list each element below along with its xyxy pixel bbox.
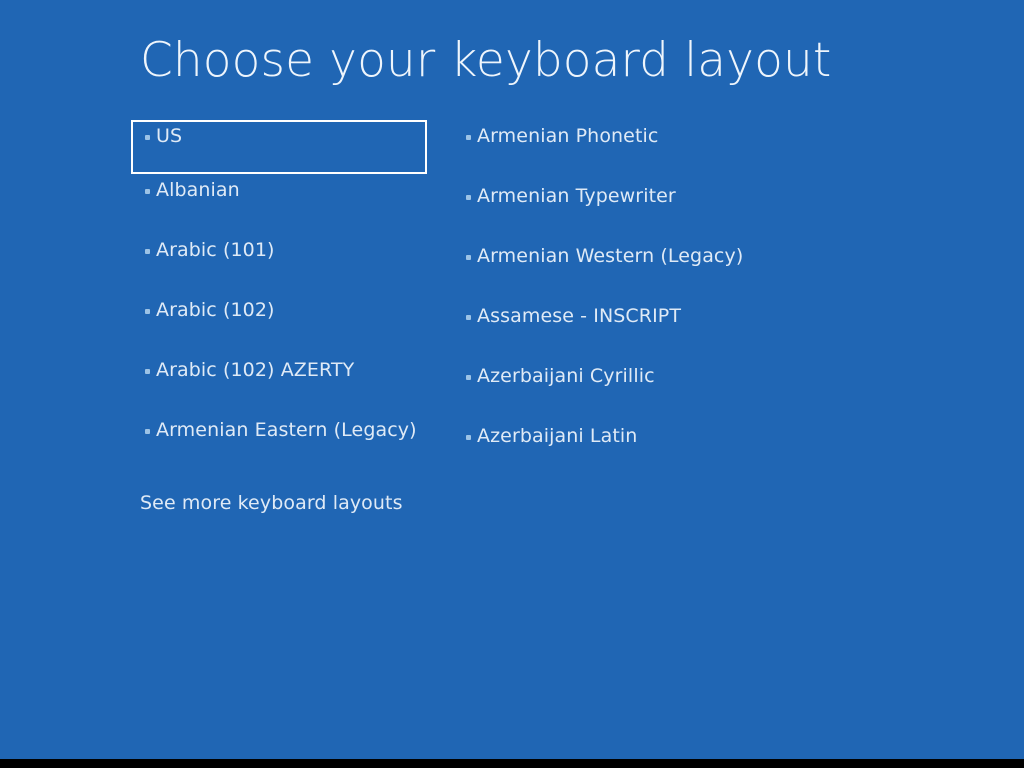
keyboard-layout-option[interactable]: Assamese - INSCRIPT bbox=[452, 300, 872, 360]
keyboard-layout-option[interactable]: Armenian Eastern (Legacy) bbox=[131, 414, 451, 474]
keyboard-layout-option[interactable]: Arabic (102) AZERTY bbox=[131, 354, 451, 414]
keyboard-layout-option[interactable]: US bbox=[131, 120, 427, 174]
keyboard-layout-option-label: Azerbaijani Cyrillic bbox=[477, 360, 655, 386]
keyboard-layout-option-label: Armenian Phonetic bbox=[477, 120, 658, 146]
bullet-icon bbox=[466, 435, 471, 440]
bullet-icon bbox=[145, 135, 150, 140]
keyboard-layout-option-label: Azerbaijani Latin bbox=[477, 420, 637, 446]
keyboard-layout-list-right: Armenian PhoneticArmenian TypewriterArme… bbox=[452, 120, 872, 480]
keyboard-layout-list-left: USAlbanianArabic (101)Arabic (102)Arabic… bbox=[131, 120, 451, 474]
bullet-icon bbox=[145, 249, 150, 254]
keyboard-layout-option[interactable]: Armenian Phonetic bbox=[452, 120, 872, 180]
keyboard-layout-option[interactable]: Arabic (101) bbox=[131, 234, 451, 294]
bullet-icon bbox=[145, 429, 150, 434]
keyboard-layout-option-label: Albanian bbox=[156, 174, 240, 200]
page-title: Choose your keyboard layout bbox=[140, 36, 831, 87]
keyboard-layout-option-label: US bbox=[156, 122, 182, 146]
keyboard-layout-option-label: Arabic (101) bbox=[156, 234, 275, 260]
keyboard-layout-option-label: Arabic (102) AZERTY bbox=[156, 354, 354, 380]
recovery-environment-screen: Choose your keyboard layout USAlbanianAr… bbox=[0, 0, 1024, 759]
keyboard-layout-option-label: Armenian Eastern (Legacy) bbox=[156, 414, 417, 440]
bullet-icon bbox=[466, 255, 471, 260]
bullet-icon bbox=[145, 189, 150, 194]
bullet-icon bbox=[466, 135, 471, 140]
keyboard-layout-option[interactable]: Azerbaijani Cyrillic bbox=[452, 360, 872, 420]
bottom-black-bar bbox=[0, 759, 1024, 768]
keyboard-layout-option[interactable]: Armenian Typewriter bbox=[452, 180, 872, 240]
bullet-icon bbox=[466, 375, 471, 380]
keyboard-layout-option[interactable]: Armenian Western (Legacy) bbox=[452, 240, 872, 300]
see-more-keyboard-layouts-link[interactable]: See more keyboard layouts bbox=[140, 492, 403, 514]
keyboard-layout-option[interactable]: Azerbaijani Latin bbox=[452, 420, 872, 480]
keyboard-layout-option[interactable]: Albanian bbox=[131, 174, 451, 234]
screen-root: Choose your keyboard layout USAlbanianAr… bbox=[0, 0, 1024, 768]
keyboard-layout-option[interactable]: Arabic (102) bbox=[131, 294, 451, 354]
keyboard-layout-option-label: Arabic (102) bbox=[156, 294, 275, 320]
bullet-icon bbox=[145, 309, 150, 314]
keyboard-layout-option-label: Armenian Western (Legacy) bbox=[477, 240, 743, 266]
bullet-icon bbox=[466, 195, 471, 200]
bullet-icon bbox=[466, 315, 471, 320]
keyboard-layout-option-label: Assamese - INSCRIPT bbox=[477, 300, 681, 326]
keyboard-layout-option-label: Armenian Typewriter bbox=[477, 180, 676, 206]
bullet-icon bbox=[145, 369, 150, 374]
